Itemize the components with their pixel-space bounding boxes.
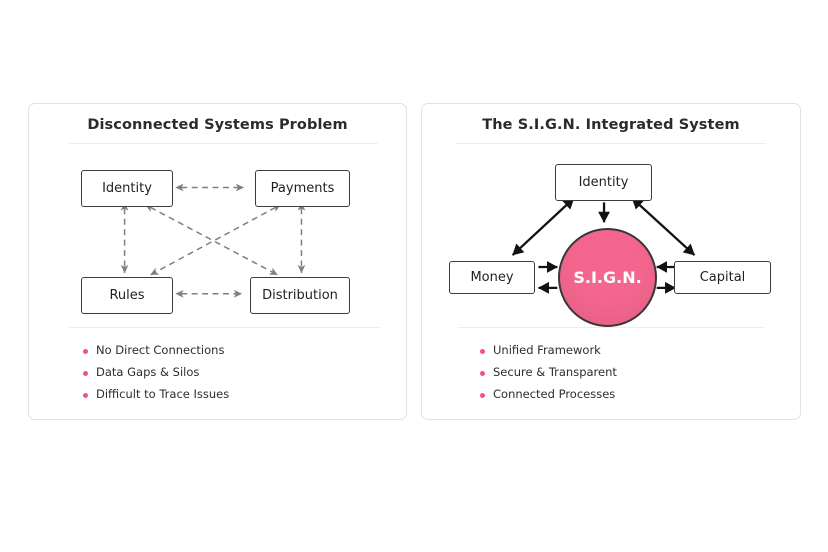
node-payments[interactable]: Payments: [255, 170, 350, 207]
bullet-dot-icon: [83, 393, 88, 398]
bullets-divider-left: [69, 327, 380, 328]
title-divider-left: [69, 143, 378, 144]
bullet-label: Unified Framework: [493, 345, 601, 357]
bullet-list-integrated: Unified Framework Secure & Transparent C…: [480, 340, 800, 406]
node-label: Payments: [271, 181, 335, 196]
bullet-dot-icon: [83, 371, 88, 376]
node-label: Rules: [109, 288, 144, 303]
list-item: No Direct Connections: [83, 340, 406, 362]
center-node-sign[interactable]: S.I.G.N.: [558, 228, 657, 327]
bullet-label: No Direct Connections: [96, 345, 224, 357]
bullet-dot-icon: [480, 349, 485, 354]
panel-sign-integrated-system: The S.I.G.N. Integrated System: [421, 103, 801, 420]
bullet-list-disconnected: No Direct Connections Data Gaps & Silos …: [83, 340, 406, 406]
node-label: Identity: [579, 175, 629, 190]
node-label: Distribution: [262, 288, 338, 303]
node-identity-left[interactable]: Identity: [81, 170, 173, 207]
panel-disconnected-systems: Disconnected Systems Problem: [28, 103, 407, 420]
list-item: Difficult to Trace Issues: [83, 384, 406, 406]
center-node-label: S.I.G.N.: [573, 268, 641, 287]
bullet-dot-icon: [480, 371, 485, 376]
list-item: Secure & Transparent: [480, 362, 800, 384]
node-label: Money: [470, 270, 513, 285]
node-rules[interactable]: Rules: [81, 277, 173, 314]
panel-title-integrated: The S.I.G.N. Integrated System: [422, 117, 800, 133]
node-label: Identity: [102, 181, 152, 196]
bullet-dot-icon: [83, 349, 88, 354]
node-identity-right[interactable]: Identity: [555, 164, 652, 201]
list-item: Unified Framework: [480, 340, 800, 362]
bullet-label: Data Gaps & Silos: [96, 367, 199, 379]
slide-canvas: Disconnected Systems Problem: [0, 0, 828, 552]
list-item: Connected Processes: [480, 384, 800, 406]
node-capital[interactable]: Capital: [674, 261, 771, 294]
node-money[interactable]: Money: [449, 261, 535, 294]
node-label: Capital: [700, 270, 746, 285]
bullet-label: Connected Processes: [493, 389, 615, 401]
node-distribution[interactable]: Distribution: [250, 277, 350, 314]
bullet-dot-icon: [480, 393, 485, 398]
bullets-divider-right: [458, 327, 764, 328]
panel-title-disconnected: Disconnected Systems Problem: [29, 117, 406, 133]
list-item: Data Gaps & Silos: [83, 362, 406, 384]
title-divider-right: [456, 143, 766, 144]
bullet-label: Difficult to Trace Issues: [96, 389, 229, 401]
bullet-label: Secure & Transparent: [493, 367, 617, 379]
